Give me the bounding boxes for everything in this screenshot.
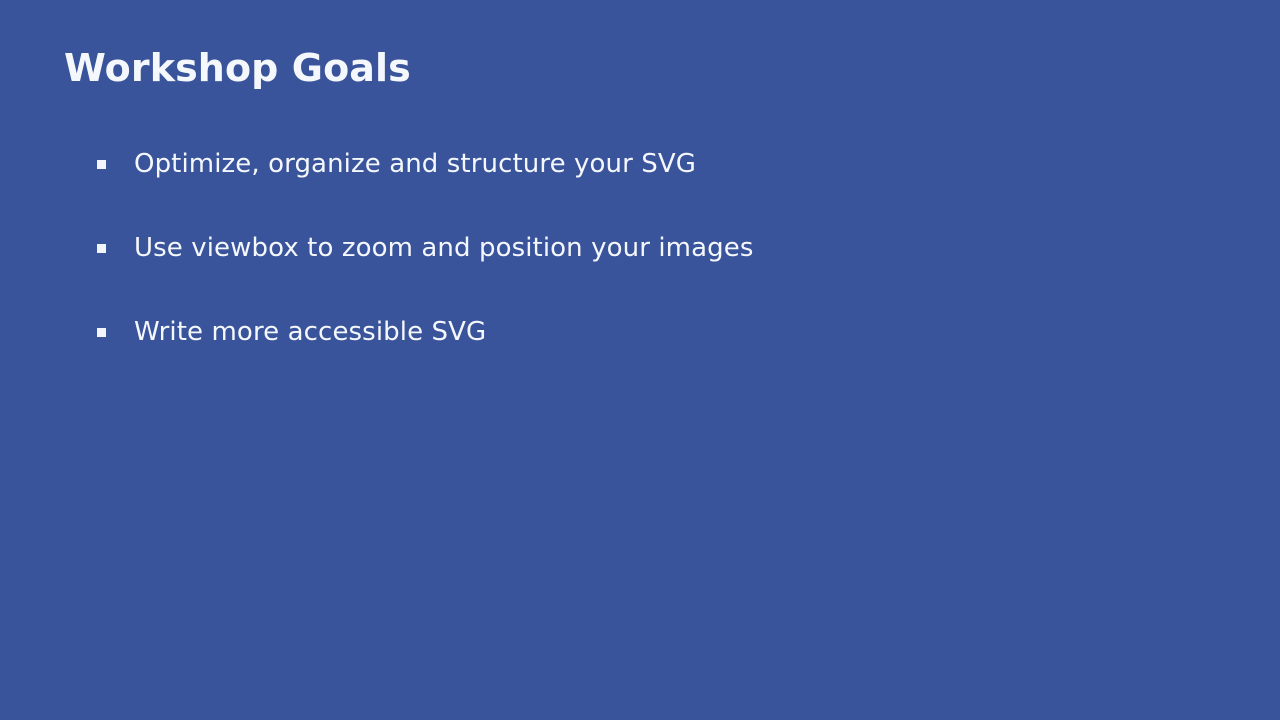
square-bullet-icon xyxy=(97,328,106,337)
list-item-label: Use viewbox to zoom and position your im… xyxy=(134,233,753,263)
list-item-label: Write more accessible SVG xyxy=(134,317,486,347)
square-bullet-icon xyxy=(97,160,106,169)
page-title: Workshop Goals xyxy=(64,47,411,91)
square-bullet-icon xyxy=(97,244,106,253)
list-item: Optimize, organize and structure your SV… xyxy=(97,149,753,233)
presentation-slide: Workshop Goals Optimize, organize and st… xyxy=(0,0,1280,720)
list-item: Use viewbox to zoom and position your im… xyxy=(97,233,753,317)
list-item: Write more accessible SVG xyxy=(97,317,753,401)
bullet-list: Optimize, organize and structure your SV… xyxy=(97,149,753,401)
list-item-label: Optimize, organize and structure your SV… xyxy=(134,149,696,179)
